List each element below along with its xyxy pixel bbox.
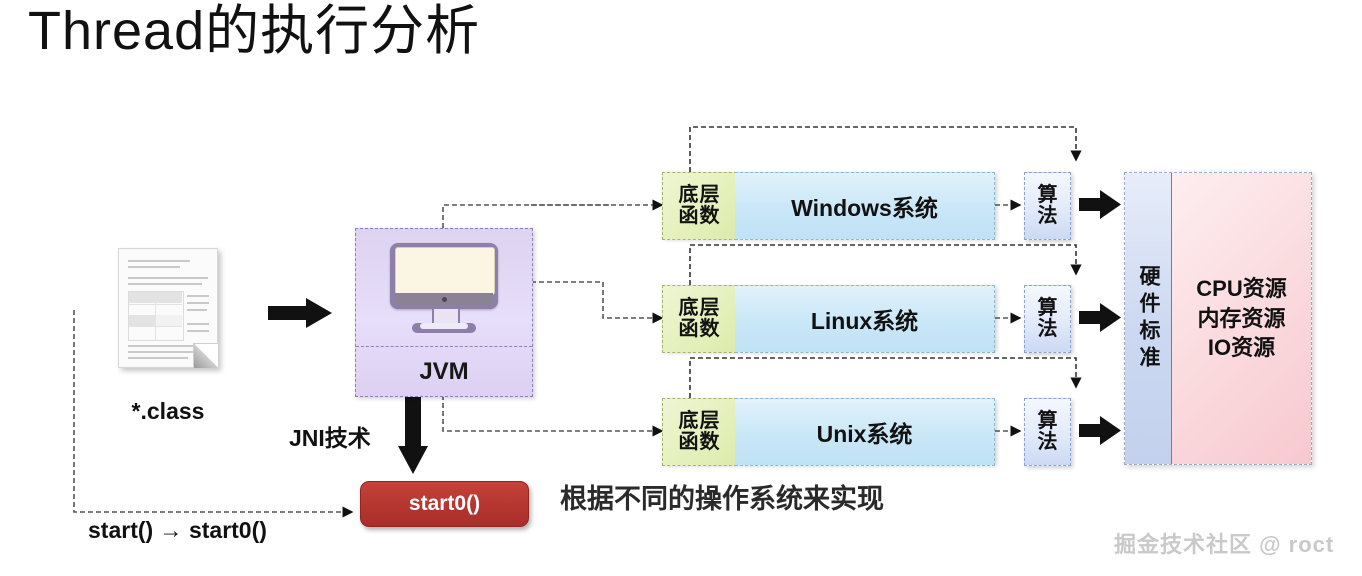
arrow-algo3-to-hardware xyxy=(1079,416,1121,445)
algo-line1: 算 xyxy=(1038,185,1058,206)
arrow-algo2-to-hardware xyxy=(1079,303,1121,332)
native-fn-line2: 函数 xyxy=(679,319,721,340)
native-fn-line1: 底层 xyxy=(679,185,721,206)
dashed-start0-to-unix xyxy=(443,395,662,431)
dashed-feedback-unix xyxy=(690,358,1076,398)
os-row-windows[interactable]: 底层 函数 Windows系统 xyxy=(662,172,995,238)
algo-line1: 算 xyxy=(1038,298,1058,319)
algo-line2: 法 xyxy=(1038,206,1058,227)
document-icon xyxy=(118,248,218,368)
native-fn-line2: 函数 xyxy=(679,206,721,227)
os-name-unix: Unix系统 xyxy=(735,398,995,466)
dashed-jvm-branch-top xyxy=(443,205,610,228)
implementation-note: 根据不同的操作系统来实现 xyxy=(560,477,884,516)
native-fn-line1: 底层 xyxy=(679,411,721,432)
dashed-feedback-windows xyxy=(690,127,1076,172)
dashed-feedback-linux xyxy=(690,245,1076,285)
algorithm-box-unix[interactable]: 算 法 xyxy=(1024,398,1071,466)
os-row-unix[interactable]: 底层 函数 Unix系统 xyxy=(662,398,995,464)
monitor-icon xyxy=(390,243,498,338)
native-function-box-unix: 底层 函数 xyxy=(662,398,737,466)
slide-canvas: Thread的执行分析 xyxy=(0,0,1362,576)
native-fn-line2: 函数 xyxy=(679,432,721,453)
hardware-standard-column: 硬件标准 xyxy=(1125,173,1172,464)
os-name-windows: Windows系统 xyxy=(735,172,995,240)
jni-technique-label: JNI技术 xyxy=(289,419,371,453)
jvm-label: JVM xyxy=(356,347,532,396)
hardware-block[interactable]: 硬件标准 CPU资源 内存资源 IO资源 xyxy=(1124,172,1312,465)
resource-cpu: CPU资源 xyxy=(1196,274,1286,304)
dashed-jvm-to-linux xyxy=(531,282,662,318)
class-file-icon xyxy=(118,248,218,368)
os-name-linux: Linux系统 xyxy=(735,285,995,353)
native-function-box-linux: 底层 函数 xyxy=(662,285,737,353)
watermark: 掘金技术社区 @ roct xyxy=(1114,527,1334,559)
algorithm-box-linux[interactable]: 算 法 xyxy=(1024,285,1071,353)
start0-native-method-button[interactable]: start0() xyxy=(360,481,529,527)
os-row-linux[interactable]: 底层 函数 Linux系统 xyxy=(662,285,995,351)
algorithm-box-windows[interactable]: 算 法 xyxy=(1024,172,1071,240)
native-fn-line1: 底层 xyxy=(679,298,721,319)
arrow-class-to-jvm xyxy=(268,298,332,328)
class-file-label: *.class xyxy=(104,398,232,425)
algo-line2: 法 xyxy=(1038,432,1058,453)
arrow-algo1-to-hardware xyxy=(1079,190,1121,219)
native-function-box-windows: 底层 函数 xyxy=(662,172,737,240)
arrow-jvm-to-start0 xyxy=(398,395,428,474)
start-flow-label: start() → start0() xyxy=(88,517,267,544)
resource-memory: 内存资源 xyxy=(1197,304,1285,334)
jvm-box[interactable]: JVM xyxy=(355,228,533,397)
hardware-standard-label: 硬件标准 xyxy=(1133,265,1163,373)
hardware-resources-column: CPU资源 内存资源 IO资源 xyxy=(1172,173,1311,464)
resource-io: IO资源 xyxy=(1208,333,1275,363)
page-fold-corner xyxy=(193,343,218,368)
algo-line1: 算 xyxy=(1038,411,1058,432)
algo-line2: 法 xyxy=(1038,319,1058,340)
